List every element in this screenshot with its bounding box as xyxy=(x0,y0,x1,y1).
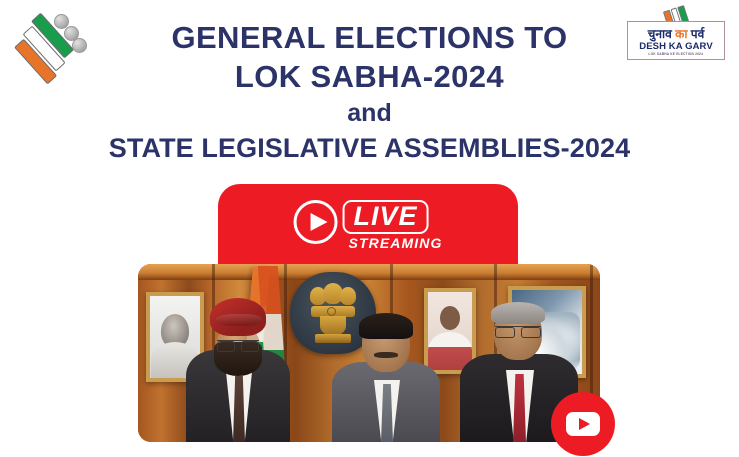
streaming-label: STREAMING xyxy=(349,235,443,251)
emblem-lion-right xyxy=(340,287,356,305)
official-center-hair xyxy=(359,313,413,339)
poster-title-block: GENERAL ELECTIONS TO LOK SABHA-2024 and … xyxy=(0,18,739,166)
youtube-play-icon[interactable] xyxy=(551,392,615,456)
officials-photograph xyxy=(138,264,600,442)
official-center xyxy=(332,316,440,442)
official-left xyxy=(186,298,290,442)
official-left-turban xyxy=(210,298,266,336)
live-label: LIVE xyxy=(343,200,429,234)
portrait2-head xyxy=(440,306,460,330)
title-conjunction: and xyxy=(0,96,739,130)
live-streaming-text: LIVE STREAMING xyxy=(343,200,443,251)
live-streaming-badge: LIVE STREAMING xyxy=(294,200,443,251)
official-right-hair xyxy=(491,302,545,324)
official-center-mustache xyxy=(374,352,398,358)
wall-top-trim xyxy=(138,264,600,280)
title-line-2: LOK SABHA-2024 xyxy=(0,57,739,96)
play-circle-icon xyxy=(294,200,338,244)
official-right-glasses-icon xyxy=(495,326,541,335)
youtube-play-glyph xyxy=(566,412,600,436)
official-left-glasses-icon xyxy=(217,340,259,349)
title-line-1: GENERAL ELECTIONS TO xyxy=(0,18,739,57)
live-streaming-banner: LIVE STREAMING xyxy=(218,184,518,266)
emblem-ashoka-chakra-icon xyxy=(327,307,336,316)
title-line-3: STATE LEGISLATIVE ASSEMBLIES-2024 xyxy=(0,130,739,166)
live-streaming-poster: चुनाव का पर्व DESH KA GARV LOK SABHA KE … xyxy=(0,0,739,457)
